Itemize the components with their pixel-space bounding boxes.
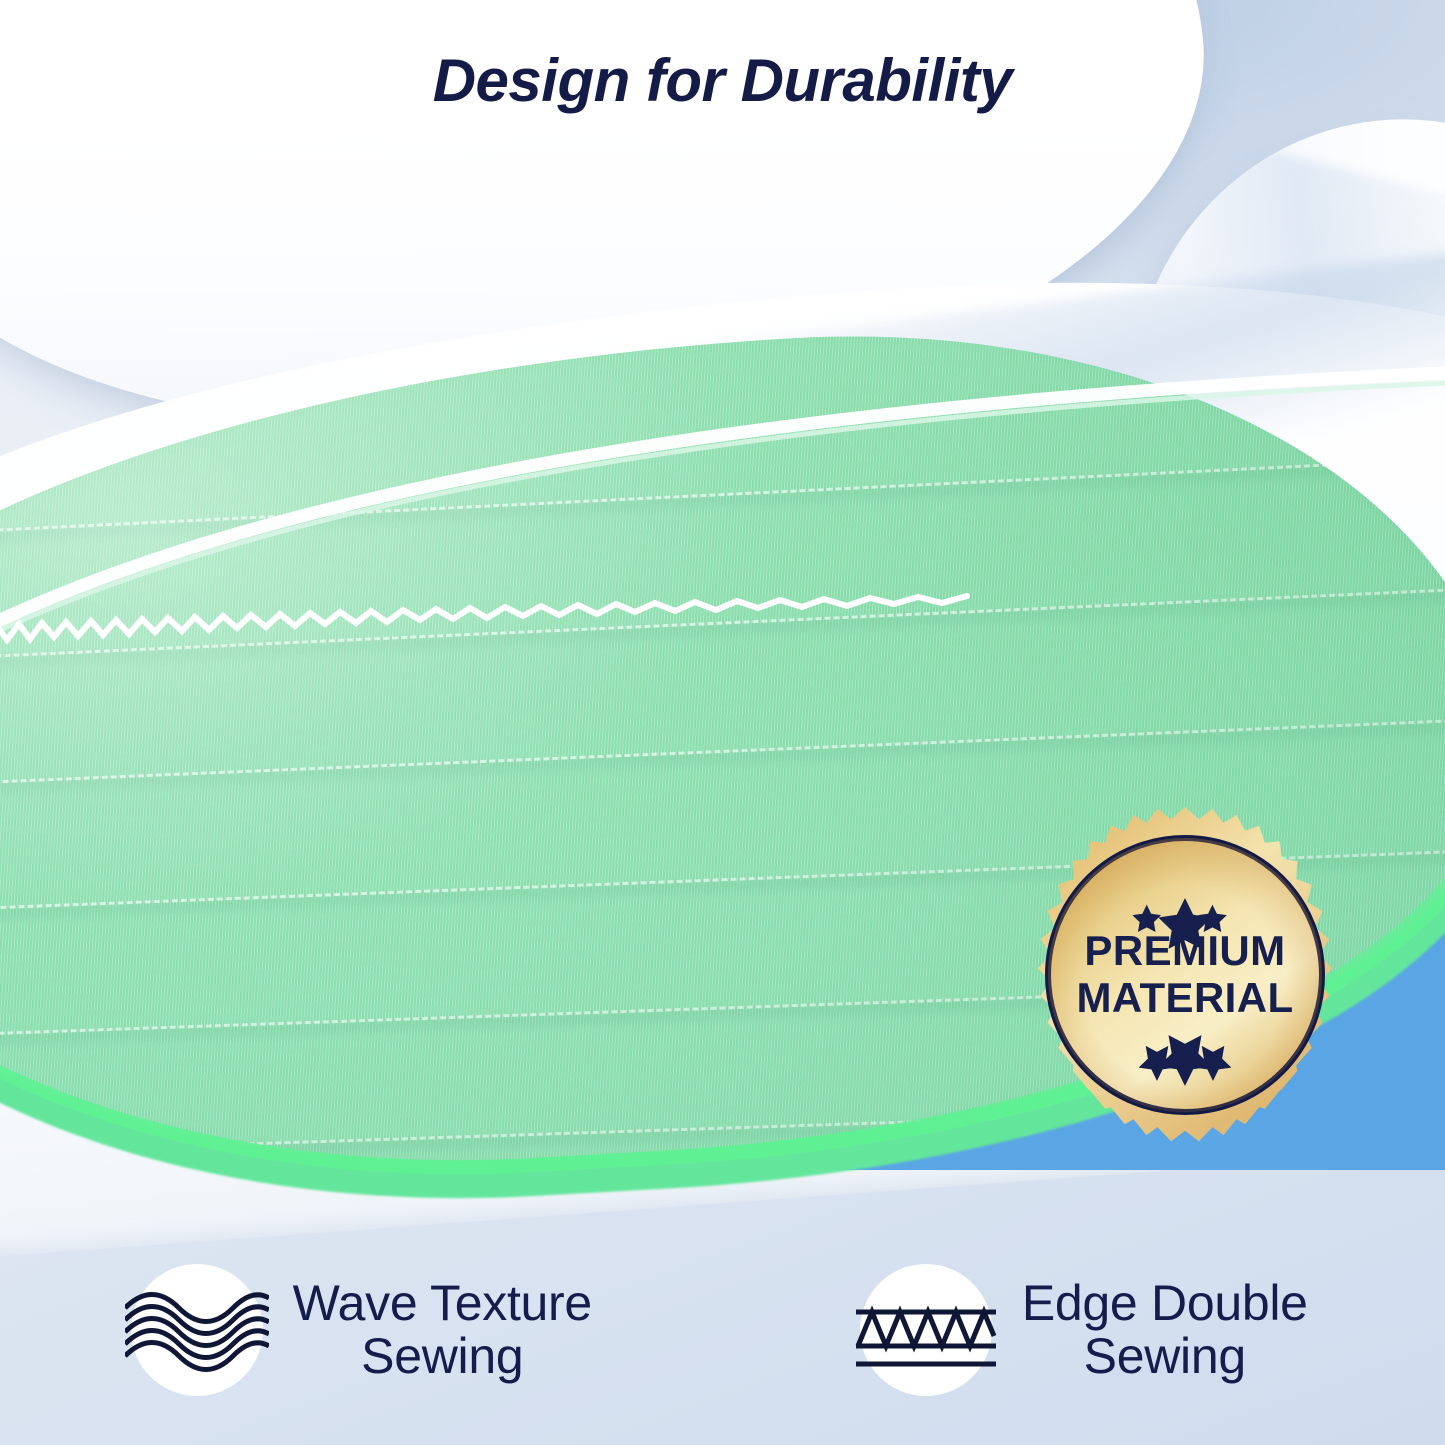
feature-wave-texture-sewing: Wave Texture Sewing xyxy=(0,1264,723,1396)
feature-label: Edge Double Sewing xyxy=(1022,1277,1308,1384)
feature-label: Wave Texture Sewing xyxy=(293,1277,592,1384)
feature-edge-double-sewing: Edge Double Sewing xyxy=(723,1264,1445,1396)
feature-row: Wave Texture Sewing Edge Double Sewing xyxy=(0,1225,1445,1435)
product-marketing-image: Design for Durability xyxy=(0,0,1445,1445)
page-title: Design for Durability xyxy=(0,46,1445,115)
zigzag-stitch-icon xyxy=(860,1264,992,1396)
wave-lines-icon xyxy=(131,1264,263,1396)
premium-material-badge: PREMIUM MATERIAL xyxy=(1010,800,1360,1150)
